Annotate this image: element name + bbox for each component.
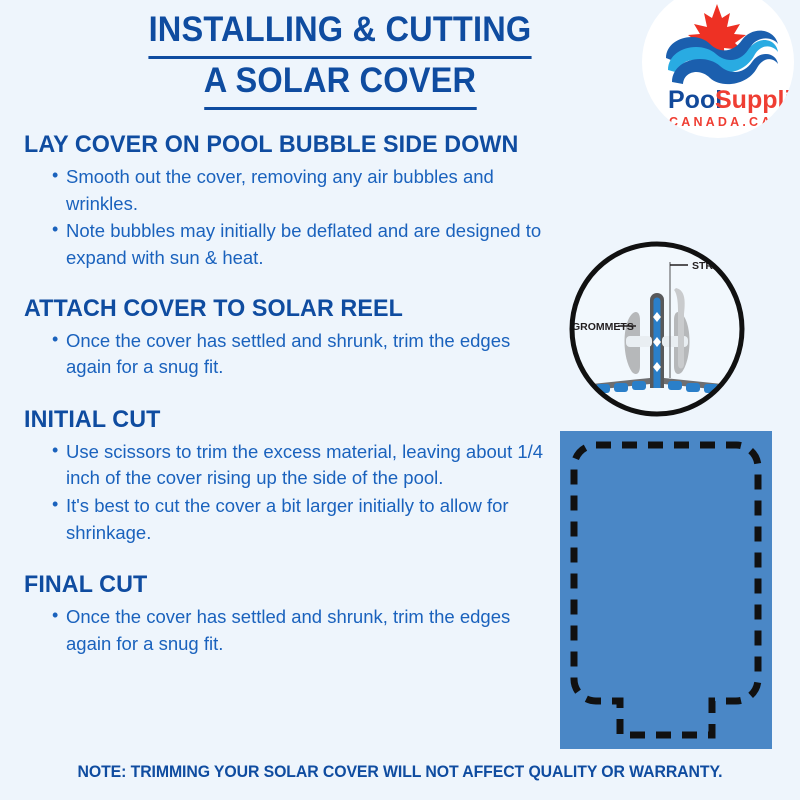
list-item: Use scissors to trim the excess material… bbox=[52, 439, 558, 492]
section-final-cut: FINAL CUT Once the cover has settled and… bbox=[24, 570, 558, 657]
title-line-1: INSTALLING & CUTTING bbox=[61, 8, 619, 59]
list-item: Once the cover has settled and shrunk, t… bbox=[52, 604, 558, 657]
grommet-strap-diagram: STRAP GROMMETS bbox=[566, 238, 748, 420]
section-attach-cover: ATTACH COVER TO SOLAR REEL Once the cove… bbox=[24, 294, 558, 381]
pool-diagram-artwork bbox=[560, 431, 772, 749]
poolsupplies-canada-logo[interactable]: Pool Supplies CANADA.CA bbox=[642, 0, 794, 138]
section-initial-cut: INITIAL CUT Use scissors to trim the exc… bbox=[24, 405, 558, 547]
page-title: INSTALLING & CUTTING A SOLAR COVER bbox=[40, 8, 640, 110]
grommet-diagram-artwork: STRAP GROMMETS bbox=[566, 238, 748, 420]
title-line-1-text: INSTALLING & CUTTING bbox=[149, 8, 532, 59]
steps-content: LAY COVER ON POOL BUBBLE SIDE DOWN Smoot… bbox=[24, 130, 558, 672]
list-item: It's best to cut the cover a bit larger … bbox=[52, 493, 558, 546]
section-heading: INITIAL CUT bbox=[24, 405, 542, 435]
list-item: Smooth out the cover, removing any air b… bbox=[52, 164, 558, 217]
footer-note: NOTE: TRIMMING YOUR SOLAR COVER WILL NOT… bbox=[16, 763, 784, 782]
grommets-label: GROMMETS bbox=[572, 321, 634, 333]
section-heading: LAY COVER ON POOL BUBBLE SIDE DOWN bbox=[24, 130, 542, 160]
bullet-list: Smooth out the cover, removing any air b… bbox=[24, 164, 558, 272]
infographic-page: INSTALLING & CUTTING A SOLAR COVER Pool … bbox=[0, 0, 800, 800]
list-item: Once the cover has settled and shrunk, t… bbox=[52, 328, 558, 381]
section-heading: FINAL CUT bbox=[24, 570, 542, 600]
title-line-2-text: A SOLAR COVER bbox=[204, 59, 476, 110]
section-heading: ATTACH COVER TO SOLAR REEL bbox=[24, 294, 542, 324]
bullet-list: Once the cover has settled and shrunk, t… bbox=[24, 604, 558, 657]
title-line-2: A SOLAR COVER bbox=[61, 59, 619, 110]
list-item: Note bubbles may initially be deflated a… bbox=[52, 218, 558, 271]
header: INSTALLING & CUTTING A SOLAR COVER Pool … bbox=[0, 0, 800, 124]
section-lay-cover: LAY COVER ON POOL BUBBLE SIDE DOWN Smoot… bbox=[24, 130, 558, 272]
logo-brand-supplies: Supplies bbox=[715, 86, 794, 114]
bullet-list: Use scissors to trim the excess material… bbox=[24, 439, 558, 547]
bullet-list: Once the cover has settled and shrunk, t… bbox=[24, 328, 558, 381]
logo-tagline: CANADA.CA bbox=[669, 115, 774, 129]
logo-artwork: Pool Supplies CANADA.CA bbox=[642, 0, 794, 138]
pool-cut-diagram bbox=[560, 431, 772, 749]
